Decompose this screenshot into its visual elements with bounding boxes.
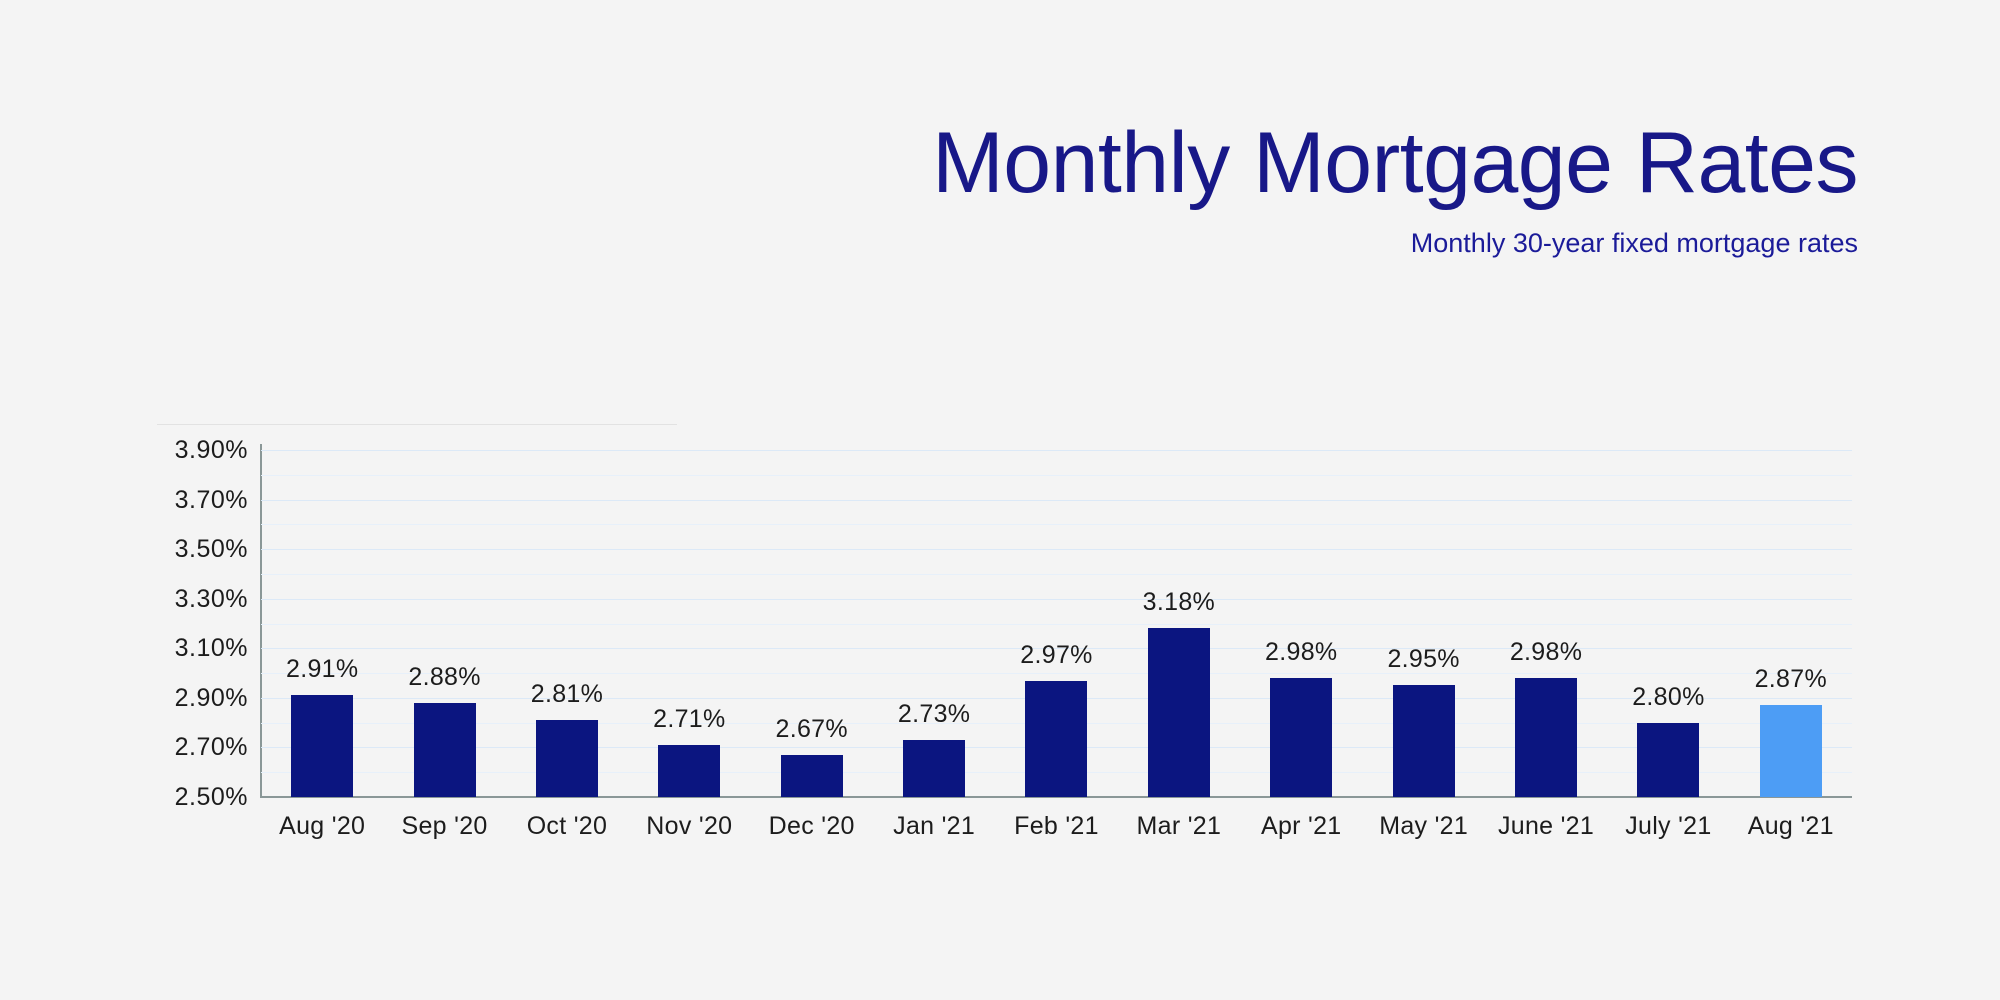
- bar-chart: 2.91%2.88%2.81%2.71%2.67%2.73%2.97%3.18%…: [0, 0, 2000, 1000]
- x-axis-tick-label: July '21: [1607, 812, 1729, 841]
- bar-value-label: 2.81%: [531, 680, 603, 709]
- bar-value-label: 2.87%: [1755, 665, 1827, 694]
- bar-slot: 2.97%: [995, 450, 1117, 797]
- bar-value-label: 2.73%: [898, 700, 970, 729]
- y-axis-tick-label: 2.50%: [128, 783, 248, 812]
- bar[interactable]: [903, 740, 965, 797]
- bar-value-label: 2.80%: [1632, 683, 1704, 712]
- bar[interactable]: [658, 745, 720, 797]
- chart-top-rule: [157, 424, 677, 425]
- bar[interactable]: [1148, 628, 1210, 797]
- x-axis-tick-label: Aug '21: [1730, 812, 1852, 841]
- bar-slot: 2.73%: [873, 450, 995, 797]
- x-axis-tick-label: Jan '21: [873, 812, 995, 841]
- bar[interactable]: [781, 755, 843, 797]
- bar-slot: 2.80%: [1607, 450, 1729, 797]
- bar-value-label: 2.98%: [1510, 638, 1582, 667]
- bar[interactable]: [1515, 678, 1577, 797]
- bar-slot: 2.87%: [1730, 450, 1852, 797]
- x-axis-tick-label: Dec '20: [751, 812, 873, 841]
- y-axis-tick-label: 3.30%: [128, 585, 248, 614]
- bar-value-label: 2.88%: [408, 663, 480, 692]
- bar-value-label: 3.18%: [1143, 588, 1215, 617]
- bar[interactable]: [414, 703, 476, 797]
- bar-slot: 2.98%: [1240, 450, 1362, 797]
- bar-value-label: 2.97%: [1020, 641, 1092, 670]
- bar-slot: 3.18%: [1118, 450, 1240, 797]
- bar[interactable]: [536, 720, 598, 797]
- bar-slot: 2.95%: [1362, 450, 1484, 797]
- y-axis-tick-label: 2.70%: [128, 733, 248, 762]
- x-axis-tick-label: Sep '20: [383, 812, 505, 841]
- bar-slot: 2.67%: [751, 450, 873, 797]
- x-axis-tick-label: June '21: [1485, 812, 1607, 841]
- x-axis-tick-label: Aug '20: [261, 812, 383, 841]
- bar-slot: 2.88%: [383, 450, 505, 797]
- bar[interactable]: [1025, 681, 1087, 797]
- x-axis-tick-label: Nov '20: [628, 812, 750, 841]
- bar-value-label: 2.71%: [653, 705, 725, 734]
- y-axis-tick-label: 3.90%: [128, 436, 248, 465]
- y-axis-tick-label: 2.90%: [128, 684, 248, 713]
- x-axis-tick-label: Oct '20: [506, 812, 628, 841]
- x-axis-tick-label: May '21: [1362, 812, 1484, 841]
- x-axis-tick-label: Mar '21: [1118, 812, 1240, 841]
- bar[interactable]: [1760, 705, 1822, 797]
- bar-slot: 2.81%: [506, 450, 628, 797]
- x-axis-tick-label: Apr '21: [1240, 812, 1362, 841]
- x-axis-tick-label: Feb '21: [995, 812, 1117, 841]
- bar-value-label: 2.98%: [1265, 638, 1337, 667]
- bar-slot: 2.71%: [628, 450, 750, 797]
- bar[interactable]: [1270, 678, 1332, 797]
- bar-slot: 2.91%: [261, 450, 383, 797]
- bar-value-label: 2.67%: [776, 715, 848, 744]
- bar-value-label: 2.91%: [286, 655, 358, 684]
- plot-area: 2.91%2.88%2.81%2.71%2.67%2.73%2.97%3.18%…: [261, 450, 1852, 797]
- bar-value-label: 2.95%: [1387, 645, 1459, 674]
- y-axis-tick-label: 3.50%: [128, 535, 248, 564]
- bar[interactable]: [1393, 685, 1455, 797]
- bar-slot: 2.98%: [1485, 450, 1607, 797]
- bar[interactable]: [291, 695, 353, 797]
- bar[interactable]: [1637, 723, 1699, 797]
- y-axis-tick-label: 3.10%: [128, 634, 248, 663]
- y-axis-tick-label: 3.70%: [128, 486, 248, 515]
